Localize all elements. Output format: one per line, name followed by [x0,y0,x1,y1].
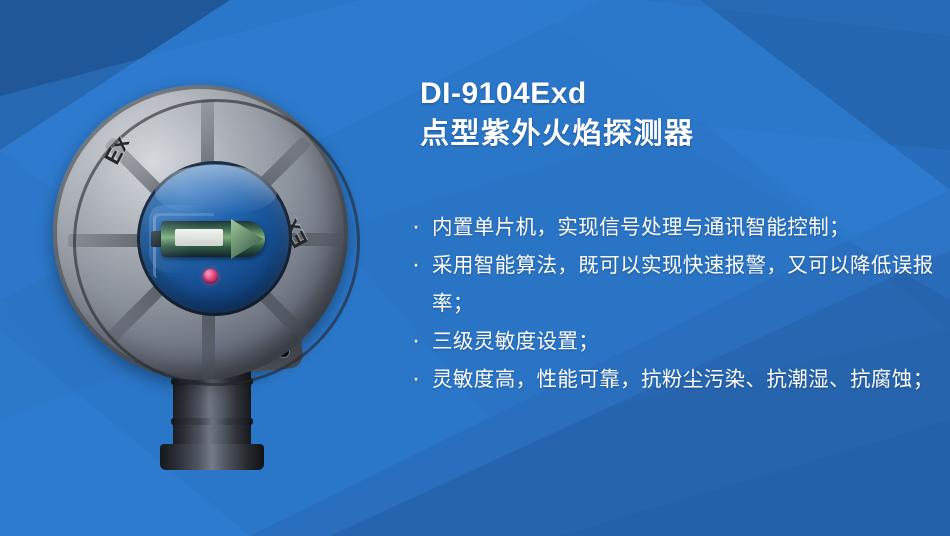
feature-item: 采用智能算法，既可以实现快速报警，又可以降低误报率； [410,247,940,323]
detector-window [137,161,292,316]
product-slide: Ex Ex DI-9104Exd 点型紫外火焰探测器 内置单片机，实现信号处理与… [0,0,950,536]
glass-reflection-side [149,205,209,273]
product-name-title: 点型紫外火焰探测器 [420,114,940,154]
conduit-ring-lower [171,418,253,425]
status-led [203,269,218,284]
flameproof-housing: Ex Ex [53,85,348,380]
product-model-title: DI-9104Exd [420,74,940,114]
product-image-uv-flame-detector: Ex Ex [40,78,360,468]
conduit-flange [160,444,264,470]
feature-list: 内置单片机，实现信号处理与通讯智能控制； 采用智能算法，既可以实现快速报警，又可… [410,209,940,399]
text-content: DI-9104Exd 点型紫外火焰探测器 内置单片机，实现信号处理与通讯智能控制… [410,74,940,399]
feature-item: 灵敏度高，性能可靠，抗粉尘污染、抗潮湿、抗腐蚀； [410,361,940,399]
feature-item: 三级灵敏度设置； [410,323,940,361]
feature-item: 内置单片机，实现信号处理与通讯智能控制； [410,209,940,247]
